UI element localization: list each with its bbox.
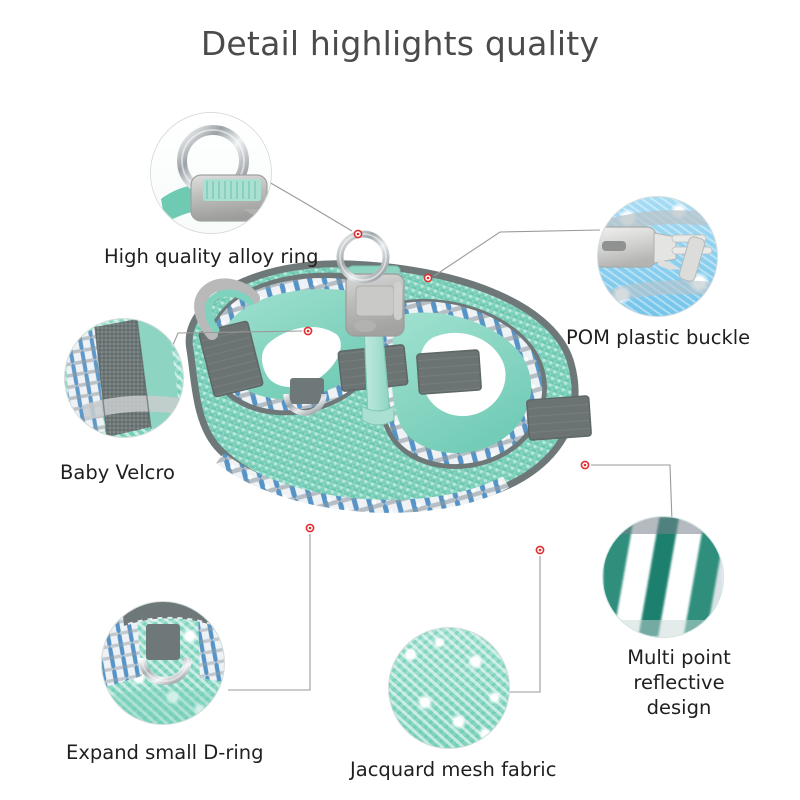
detail-circle-pom-buckle (597, 196, 718, 317)
callout-label-jacquard-mesh: Jacquard mesh fabric (350, 757, 556, 782)
d-ring-detail-icon (102, 602, 224, 724)
alloy-ring-detail-icon (151, 113, 272, 234)
reflective-patch-right (527, 396, 592, 440)
reflective-detail-shading (603, 517, 723, 637)
mesh-fabric-detail-icon (389, 628, 509, 748)
callout-label-reflective-design: Multi point reflective design (604, 645, 754, 720)
d-ring-tab (290, 378, 324, 404)
detail-circle-baby-velcro (64, 318, 184, 438)
plastic-buckle-detail-icon (598, 197, 717, 316)
detail-circle-alloy-ring (150, 112, 272, 234)
detail-circle-reflective-design (602, 516, 724, 638)
reflective-patch-mid-right (417, 350, 482, 394)
detail-circle-expand-d-ring (101, 601, 225, 725)
detail-circle-jacquard-mesh (388, 627, 510, 749)
page-title: Detail highlights quality (0, 24, 800, 63)
callout-label-baby-velcro: Baby Velcro (60, 460, 175, 485)
harness-illustration (150, 230, 620, 620)
product-detail-page: Detail highlights quality (0, 0, 800, 800)
product-image-harness (150, 230, 620, 620)
connector-alloy-ring (262, 178, 352, 231)
callout-label-expand-d-ring: Expand small D-ring (66, 740, 264, 765)
velcro-detail-icon (65, 319, 183, 437)
callout-label-alloy-ring: High quality alloy ring (104, 244, 319, 269)
callout-label-pom-buckle: POM plastic buckle (566, 325, 750, 350)
